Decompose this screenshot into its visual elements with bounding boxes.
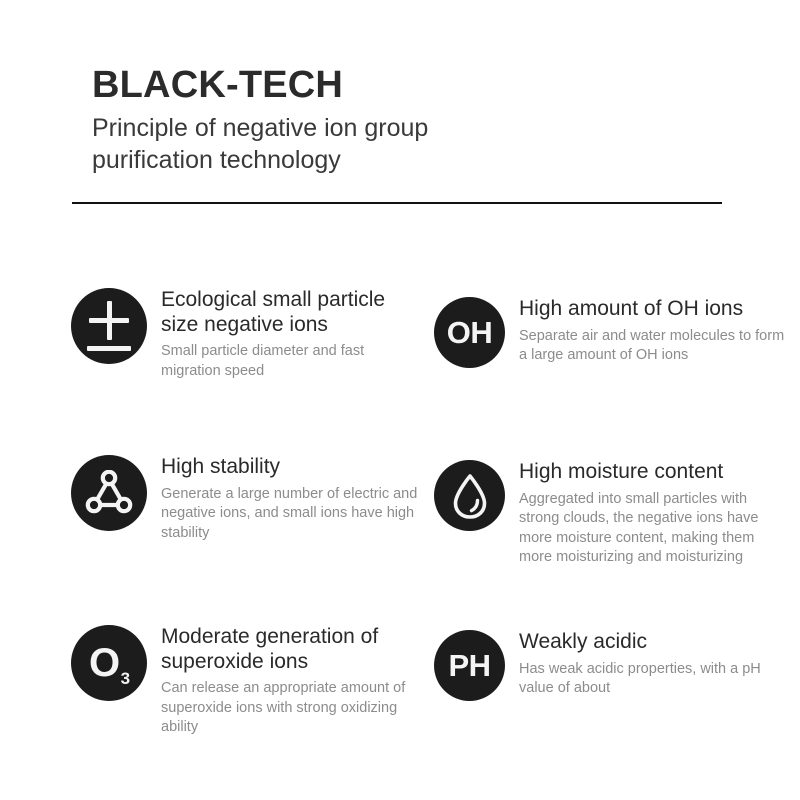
feature-text-block: High moisture content Aggregated into sm… bbox=[505, 460, 791, 568]
feature-text-block: Weakly acidic Has weak acidic properties… bbox=[505, 630, 791, 699]
water-droplet-icon bbox=[434, 460, 505, 531]
feature-item-superoxide-ions: O3 Moderate generation of superoxide ion… bbox=[71, 625, 423, 738]
ozone-o3-icon-label: O3 bbox=[89, 643, 129, 683]
feature-text-block: High amount of OH ions Separate air and … bbox=[505, 297, 791, 366]
plus-minus-icon bbox=[71, 288, 147, 364]
feature-description: Generate a large number of electric and … bbox=[161, 485, 423, 544]
feature-title: High moisture content bbox=[519, 460, 791, 485]
feature-description: Small particle diameter and fast migrati… bbox=[161, 342, 423, 381]
feature-title: High stability bbox=[161, 455, 423, 480]
feature-description: Can release an appropriate amount of sup… bbox=[161, 679, 423, 738]
feature-description: Has weak acidic properties, with a pH va… bbox=[519, 660, 791, 699]
feature-item-oh-ions: OH High amount of OH ions Separate air a… bbox=[434, 297, 791, 368]
header-block: BLACK-TECH Principle of negative ion gro… bbox=[92, 66, 732, 176]
oh-ion-icon: OH bbox=[434, 297, 505, 368]
ozone-o3-letter: O bbox=[89, 641, 120, 685]
feature-item-weakly-acidic: PH Weakly acidic Has weak acidic propert… bbox=[434, 630, 791, 701]
feature-description: Separate air and water molecules to form… bbox=[519, 327, 791, 366]
feature-title: Weakly acidic bbox=[519, 630, 791, 655]
feature-item-high-stability: High stability Generate a large number o… bbox=[71, 455, 423, 543]
ozone-o3-subscript: 3 bbox=[121, 669, 130, 688]
ph-value-icon-label: PH bbox=[448, 650, 490, 681]
feature-title: Ecological small particle size negative … bbox=[161, 288, 423, 337]
plus-horizontal-stroke bbox=[89, 318, 129, 323]
oh-ion-icon-label: OH bbox=[447, 317, 493, 348]
feature-item-negative-ions: Ecological small particle size negative … bbox=[71, 288, 423, 381]
feature-title: High amount of OH ions bbox=[519, 297, 791, 322]
ozone-o3-icon: O3 bbox=[71, 625, 147, 701]
header-subtitle: Principle of negative ion group purifica… bbox=[92, 112, 492, 176]
ph-value-icon: PH bbox=[434, 630, 505, 701]
minus-stroke bbox=[87, 346, 131, 351]
feature-description: Aggregated into small particles with str… bbox=[519, 490, 791, 568]
header-divider bbox=[72, 202, 722, 204]
feature-title: Moderate generation of superoxide ions bbox=[161, 625, 423, 674]
feature-text-block: Ecological small particle size negative … bbox=[147, 288, 423, 381]
molecule-triangle-icon bbox=[71, 455, 147, 531]
brand-title: BLACK-TECH bbox=[92, 66, 732, 106]
feature-text-block: High stability Generate a large number o… bbox=[147, 455, 423, 543]
feature-text-block: Moderate generation of superoxide ions C… bbox=[147, 625, 423, 738]
feature-item-moisture-content: High moisture content Aggregated into sm… bbox=[434, 460, 791, 568]
